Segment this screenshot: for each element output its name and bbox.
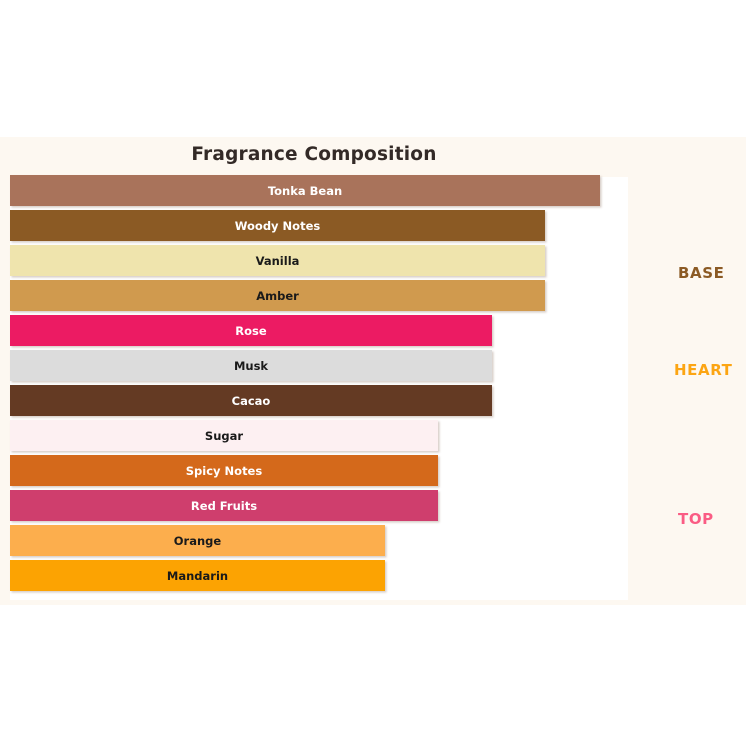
bar-rect[interactable] bbox=[10, 315, 492, 346]
bar-row[interactable]: Woody Notes bbox=[10, 210, 545, 241]
group-label-heart: HEART bbox=[674, 361, 733, 379]
bar-row[interactable]: Mandarin bbox=[10, 560, 385, 591]
bar-rect[interactable] bbox=[10, 175, 600, 206]
bar-row[interactable]: Cacao bbox=[10, 385, 492, 416]
bar-row[interactable]: Spicy Notes bbox=[10, 455, 438, 486]
bar-row[interactable]: Musk bbox=[10, 350, 492, 381]
bar-rect[interactable] bbox=[10, 350, 492, 381]
bar-rect[interactable] bbox=[10, 525, 385, 556]
group-label-base: BASE bbox=[678, 264, 725, 282]
bar-row[interactable]: Tonka Bean bbox=[10, 175, 600, 206]
bar-rect[interactable] bbox=[10, 210, 545, 241]
group-label-top: TOP bbox=[678, 510, 714, 528]
bar-row[interactable]: Rose bbox=[10, 315, 492, 346]
bar-row[interactable]: Orange bbox=[10, 525, 385, 556]
bar-row[interactable]: Red Fruits bbox=[10, 490, 438, 521]
bar-rect[interactable] bbox=[10, 280, 545, 311]
bar-row[interactable]: Vanilla bbox=[10, 245, 545, 276]
bar-row[interactable]: Sugar bbox=[10, 420, 438, 451]
bar-rect[interactable] bbox=[10, 455, 438, 486]
chart-title: Fragrance Composition bbox=[0, 144, 628, 165]
bar-rect[interactable] bbox=[10, 490, 438, 521]
bar-rect[interactable] bbox=[10, 420, 438, 451]
bar-row[interactable]: Amber bbox=[10, 280, 545, 311]
bar-rect[interactable] bbox=[10, 245, 545, 276]
bar-rect[interactable] bbox=[10, 385, 492, 416]
chart-figure: Fragrance Composition Tonka BeanWoody No… bbox=[0, 137, 746, 605]
bar-rect[interactable] bbox=[10, 560, 385, 591]
